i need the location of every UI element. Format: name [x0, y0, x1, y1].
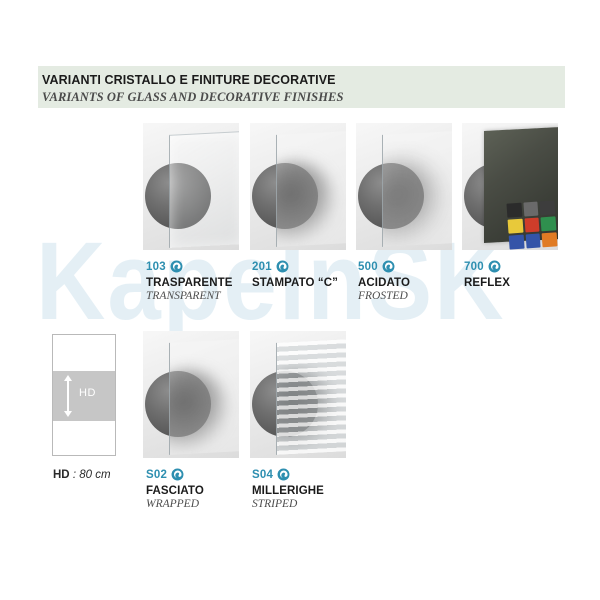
droplet-icon — [276, 260, 289, 273]
finish-name: FASCIATO — [146, 485, 266, 497]
hd-caption: HD : 80 cm — [53, 469, 111, 481]
droplet-icon — [382, 260, 395, 273]
finish-code: S04 — [252, 469, 273, 481]
color-cube — [506, 200, 557, 249]
droplet-icon — [171, 468, 184, 481]
code-row: 500 — [358, 259, 478, 274]
finish-code: S02 — [146, 469, 167, 481]
caption-trasparente: 103 TRASPARENTE TRANSPARENT — [146, 259, 266, 302]
photo-tile-stampato-c[interactable] — [250, 123, 346, 250]
finish-name-en: STRIPED — [252, 498, 372, 510]
glass-panel-transparent — [169, 131, 239, 248]
code-row: 103 — [146, 259, 266, 274]
blurred-sphere — [276, 160, 333, 242]
glass-panel-acidato — [382, 131, 452, 247]
cube-cell — [509, 235, 525, 250]
cube-cell — [524, 218, 540, 233]
finish-code: 103 — [146, 261, 166, 273]
caption-reflex: 700 REFLEX — [464, 259, 584, 290]
cube-cell — [525, 233, 541, 248]
catalog-page: KapelnSK VARIANTI CRISTALLO E FINITURE D… — [0, 0, 600, 600]
finish-name: REFLEX — [464, 277, 584, 289]
code-row: S04 — [252, 467, 372, 482]
hd-caption-sep: : — [70, 469, 80, 481]
finish-code: 201 — [252, 261, 272, 273]
photo-tile-fasciato[interactable] — [143, 331, 239, 458]
glass-panel-stampato — [276, 131, 346, 247]
hd-caption-value: 80 cm — [79, 469, 110, 481]
finish-name: TRASPARENTE — [146, 277, 266, 289]
hd-caption-key: HD — [53, 469, 70, 481]
caption-acidato: 500 ACIDATO FROSTED — [358, 259, 478, 302]
caption-stampato-c: 201 STAMPATO “C” — [252, 259, 372, 290]
arrow-shaft — [67, 380, 69, 412]
photo-tile-trasparente[interactable] — [143, 123, 239, 250]
glass-panel-millerighe — [276, 339, 346, 455]
finish-name: ACIDATO — [358, 277, 478, 289]
finish-name-en: WRAPPED — [146, 498, 266, 510]
hd-diagram: HD — [52, 334, 116, 456]
cube-cell — [506, 203, 522, 218]
cube-cell — [540, 200, 556, 215]
finish-name: MILLERIGHE — [252, 485, 372, 497]
cube-cell — [541, 216, 557, 231]
stripe-pattern — [277, 339, 346, 455]
photo-tile-acidato[interactable] — [356, 123, 452, 250]
photo-tile-reflex[interactable] — [462, 123, 558, 250]
cube-cell — [542, 232, 558, 247]
caption-fasciato: S02 FASCIATO WRAPPED — [146, 467, 266, 510]
droplet-icon — [170, 260, 183, 273]
code-row: 700 — [464, 259, 584, 274]
finish-name: STAMPATO “C” — [252, 277, 372, 289]
page-subtitle: VARIANTS OF GLASS AND DECORATIVE FINISHE… — [42, 90, 344, 105]
finish-name-en: FROSTED — [358, 290, 478, 302]
finish-code: 700 — [464, 261, 484, 273]
cube-cell — [523, 202, 539, 217]
glass-panel-fasciato — [169, 339, 239, 455]
code-row: S02 — [146, 467, 266, 482]
droplet-icon — [488, 260, 501, 273]
finish-code: 500 — [358, 261, 378, 273]
arrow-down-head — [64, 411, 72, 417]
blurred-sphere — [382, 160, 439, 242]
code-row: 201 — [252, 259, 372, 274]
cube-cell — [508, 219, 524, 234]
hd-band-label: HD — [79, 387, 96, 399]
hd-double-arrow-icon — [63, 375, 73, 417]
blurred-sphere — [169, 368, 226, 450]
page-title: VARIANTI CRISTALLO E FINITURE DECORATIVE — [42, 73, 336, 87]
photo-tile-millerighe[interactable] — [250, 331, 346, 458]
caption-millerighe: S04 MILLERIGHE STRIPED — [252, 467, 372, 510]
droplet-icon — [277, 468, 290, 481]
finish-name-en: TRANSPARENT — [146, 290, 266, 302]
